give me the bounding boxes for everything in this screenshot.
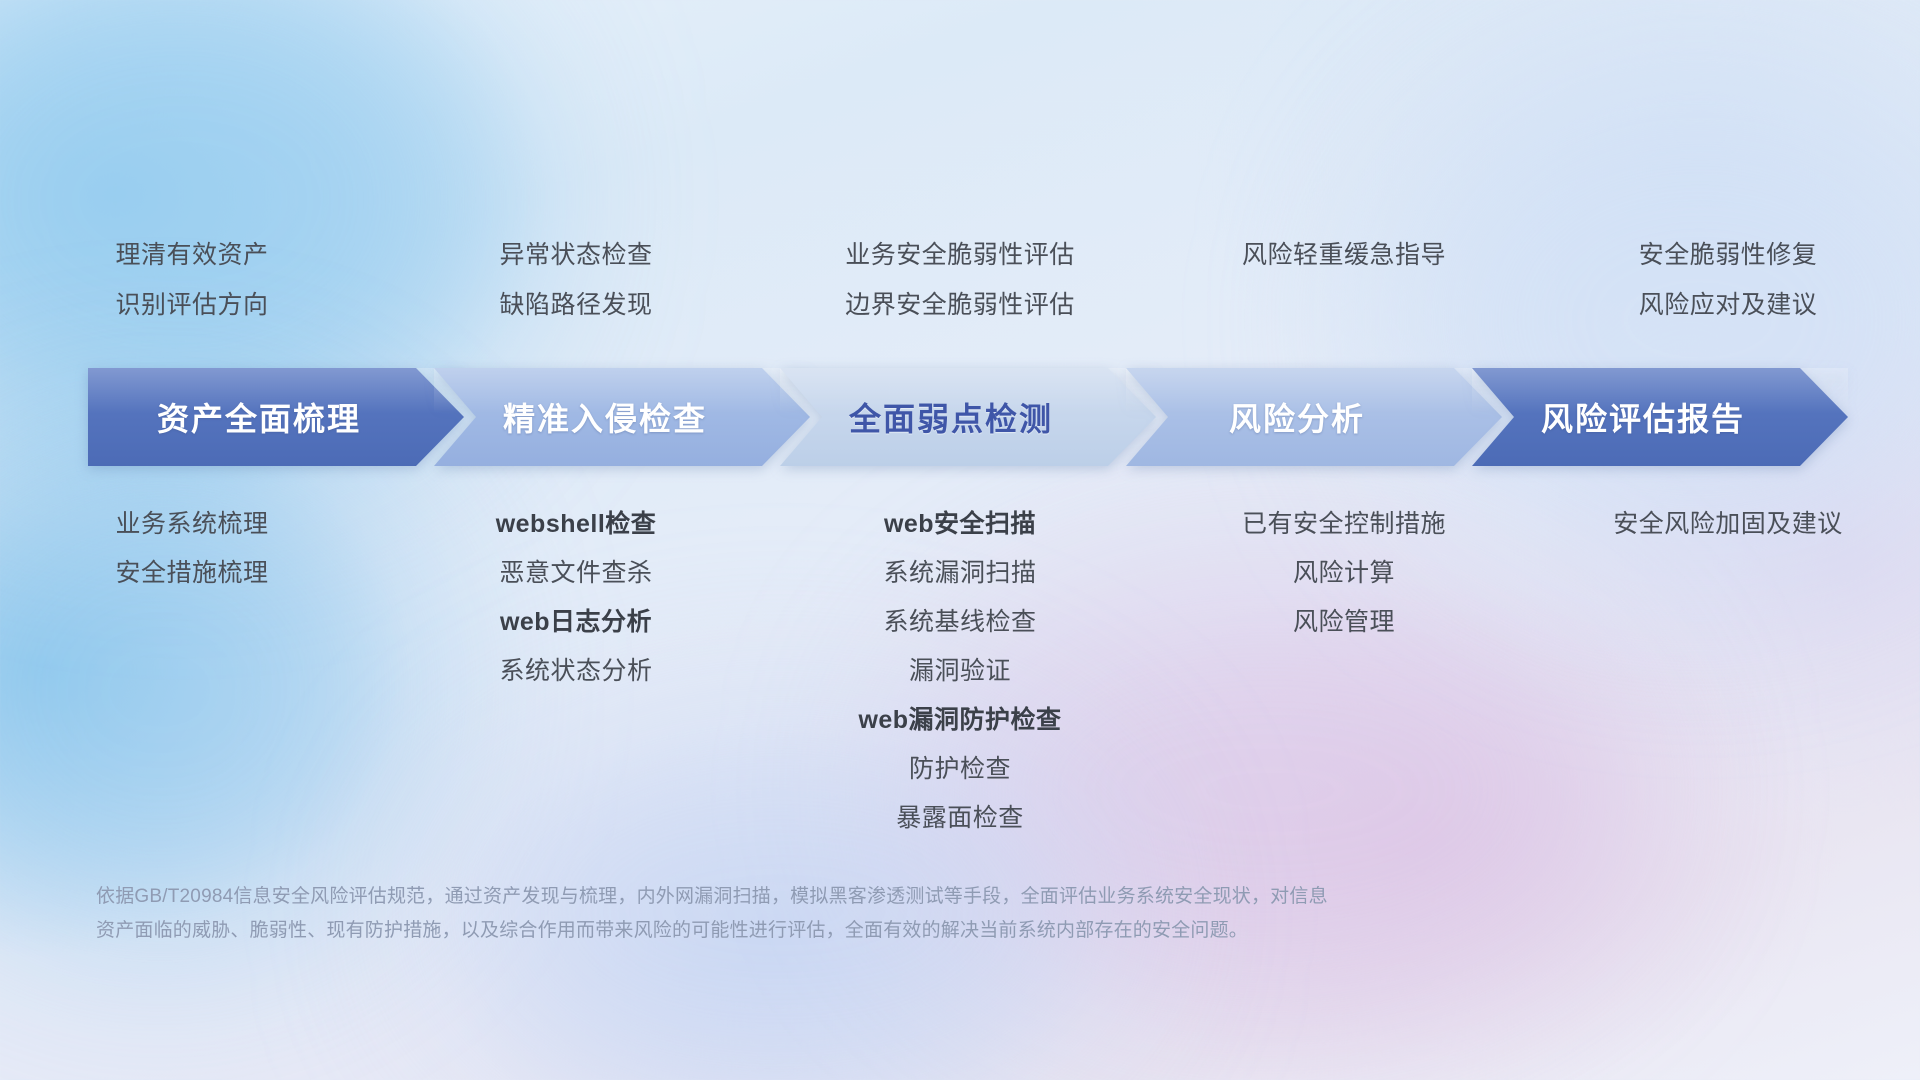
detail-list-column: 业务系统梳理安全措施梳理 — [0, 500, 384, 830]
detail-list-item: 防护检查 — [909, 745, 1011, 794]
detail-list-item: 漏洞验证 — [909, 647, 1011, 696]
stage-chevron-label: 全面弱点检测 — [849, 394, 1087, 440]
stage-chevron-1[interactable]: 资产全面梳理 — [88, 368, 464, 466]
top-label-column: 业务安全脆弱性评估边界安全脆弱性评估 — [768, 230, 1152, 340]
footer-line-1: 依据GB/T20984信息安全风险评估规范，通过资产发现与梳理，内外网漏洞扫描，… — [96, 880, 1824, 914]
top-label-line: 识别评估方向 — [115, 280, 268, 330]
top-label-column: 安全脆弱性修复风险应对及建议 — [1536, 230, 1920, 340]
top-label-line: 业务安全脆弱性评估 — [845, 230, 1075, 280]
footer-description: 依据GB/T20984信息安全风险评估规范，通过资产发现与梳理，内外网漏洞扫描，… — [96, 880, 1824, 948]
detail-list-item: 恶意文件查杀 — [499, 549, 652, 598]
stage-chevron-label: 风险评估报告 — [1541, 394, 1779, 440]
detail-list-item: 系统基线检查 — [883, 598, 1036, 647]
top-label-line: 理清有效资产 — [115, 230, 268, 280]
detail-list-column: 已有安全控制措施风险计算风险管理 — [1152, 500, 1536, 830]
top-label-line: 风险轻重缓急指导 — [1242, 230, 1446, 280]
top-label-line: 安全脆弱性修复 — [1639, 230, 1818, 280]
top-label-column: 异常状态检查缺陷路径发现 — [384, 230, 768, 340]
bottom-details-row: 业务系统梳理安全措施梳理webshell检查恶意文件查杀web日志分析系统状态分… — [0, 500, 1920, 830]
detail-list-item: 安全风险加固及建议 — [1613, 500, 1843, 549]
detail-list-item: 系统状态分析 — [499, 647, 652, 696]
stage-chevron-label: 资产全面梳理 — [157, 394, 395, 440]
detail-list-item: web漏洞防护检查 — [858, 696, 1061, 745]
top-label-line: 风险应对及建议 — [1639, 280, 1818, 330]
stage-chevron-label: 精准入侵检查 — [503, 394, 741, 440]
detail-list-item: webshell检查 — [496, 500, 657, 549]
top-labels-row: 理清有效资产识别评估方向异常状态检查缺陷路径发现业务安全脆弱性评估边界安全脆弱性… — [0, 230, 1920, 340]
stage-chevron-3[interactable]: 全面弱点检测 — [780, 368, 1156, 466]
detail-list-item: 暴露面检查 — [896, 794, 1024, 843]
detail-list-column: webshell检查恶意文件查杀web日志分析系统状态分析 — [384, 500, 768, 830]
top-label-column: 理清有效资产识别评估方向 — [0, 230, 384, 340]
detail-list-column: 安全风险加固及建议 — [1536, 500, 1920, 830]
stage-chevron-2[interactable]: 精准入侵检查 — [434, 368, 810, 466]
detail-list-item: 风险管理 — [1293, 598, 1395, 647]
stage-chevron-label: 风险分析 — [1229, 394, 1399, 440]
top-label-line: 缺陷路径发现 — [499, 280, 652, 330]
detail-list-item: 风险计算 — [1293, 549, 1395, 598]
top-label-column: 风险轻重缓急指导 — [1152, 230, 1536, 340]
detail-list-item: 业务系统梳理 — [115, 500, 268, 549]
stage-chevron-4[interactable]: 风险分析 — [1126, 368, 1502, 466]
process-diagram: 理清有效资产识别评估方向异常状态检查缺陷路径发现业务安全脆弱性评估边界安全脆弱性… — [0, 0, 1920, 1080]
detail-list-item: 安全措施梳理 — [115, 549, 268, 598]
detail-list-item: web安全扫描 — [884, 500, 1036, 549]
detail-list-column: web安全扫描系统漏洞扫描系统基线检查漏洞验证web漏洞防护检查防护检查暴露面检… — [768, 500, 1152, 830]
footer-line-2: 资产面临的威胁、脆弱性、现有防护措施，以及综合作用而带来风险的可能性进行评估，全… — [96, 914, 1824, 948]
detail-list-item: 系统漏洞扫描 — [883, 549, 1036, 598]
detail-list-item: 已有安全控制措施 — [1242, 500, 1446, 549]
top-label-line: 异常状态检查 — [499, 230, 652, 280]
stage-chevron-band: 资产全面梳理精准入侵检查全面弱点检测风险分析风险评估报告 — [88, 368, 1848, 466]
stage-chevron-5[interactable]: 风险评估报告 — [1472, 368, 1848, 466]
detail-list-item: web日志分析 — [500, 598, 652, 647]
top-label-line: 边界安全脆弱性评估 — [845, 280, 1075, 330]
